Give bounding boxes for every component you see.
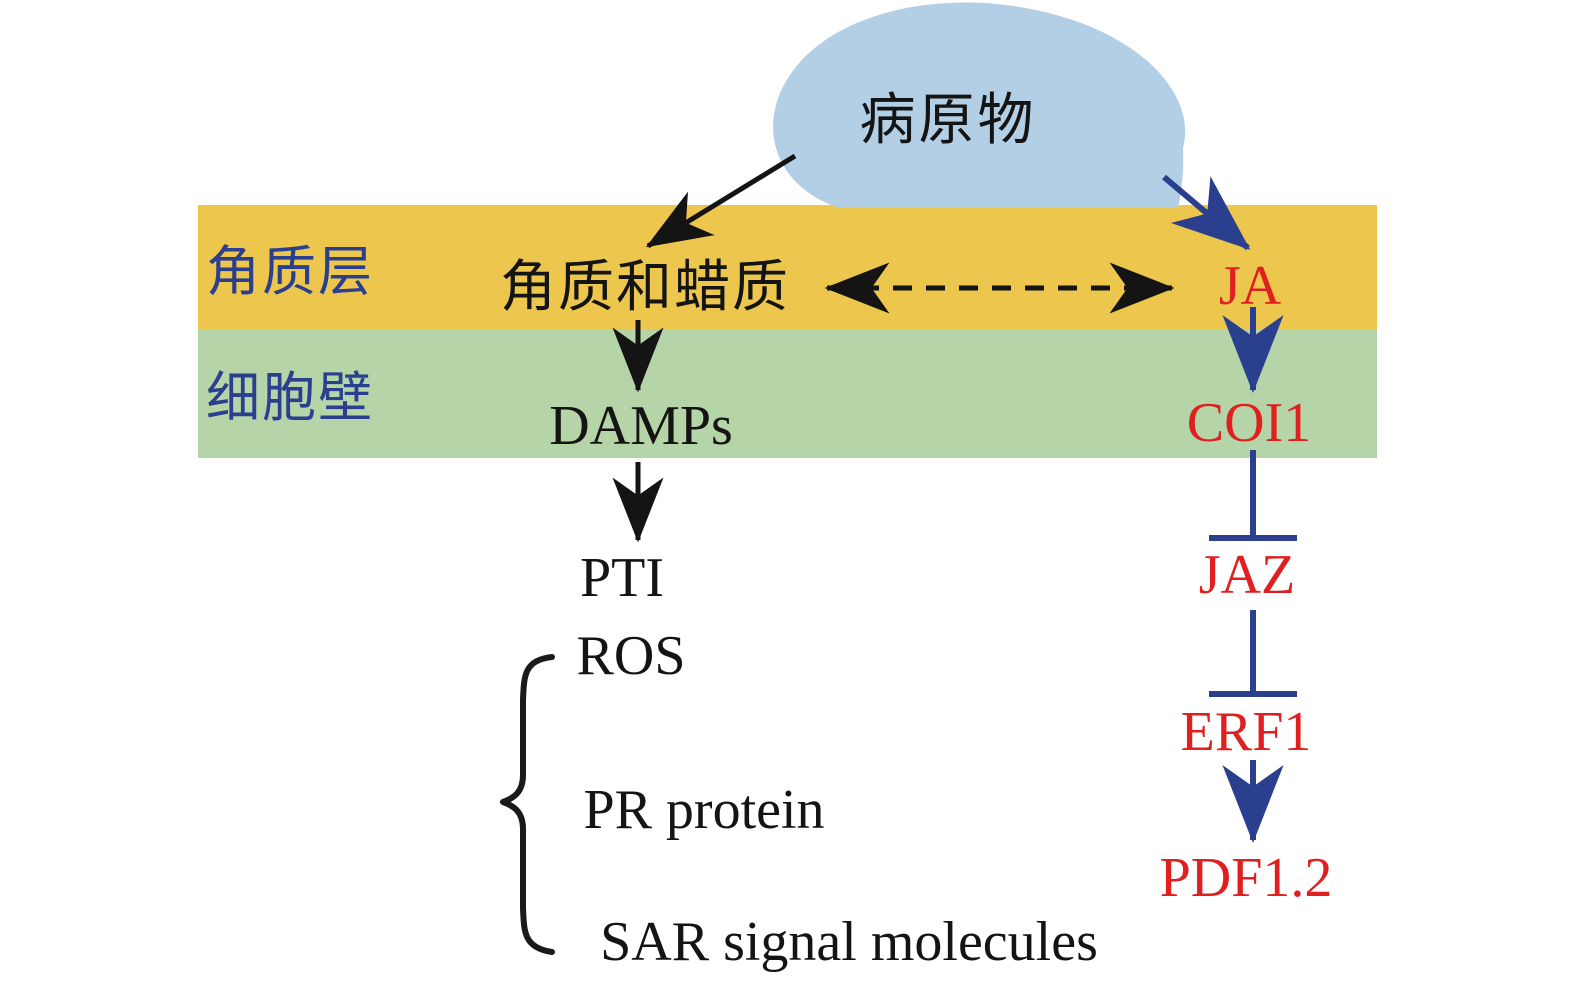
node-damps: DAMPs bbox=[549, 398, 733, 454]
edge-pathogen-to-cutin bbox=[648, 156, 795, 246]
diagram-canvas: JA (black dashed double arrow) --> 病原物 角… bbox=[0, 0, 1575, 983]
node-erf1: ERF1 bbox=[1181, 704, 1312, 760]
defense-outputs-brace bbox=[503, 657, 552, 952]
band-label-cellwall: 细胞壁 bbox=[206, 371, 374, 425]
node-coi1: COI1 bbox=[1187, 395, 1311, 451]
node-cutin-and-wax: 角质和蜡质 bbox=[500, 260, 790, 316]
node-pr-protein: PR protein bbox=[583, 782, 824, 838]
pathogen-label: 病原物 bbox=[860, 93, 1037, 149]
node-ros: ROS bbox=[577, 628, 686, 684]
node-pti: PTI bbox=[580, 550, 664, 606]
node-ja: JA bbox=[1219, 258, 1281, 314]
node-jaz: JAZ bbox=[1199, 547, 1295, 603]
node-pdf12: PDF1.2 bbox=[1160, 850, 1333, 906]
band-label-cuticle: 角质层 bbox=[206, 245, 374, 299]
edge-pathogen-to-ja bbox=[1164, 177, 1248, 248]
node-sar-signal-molecules: SAR signal molecules bbox=[600, 914, 1098, 970]
